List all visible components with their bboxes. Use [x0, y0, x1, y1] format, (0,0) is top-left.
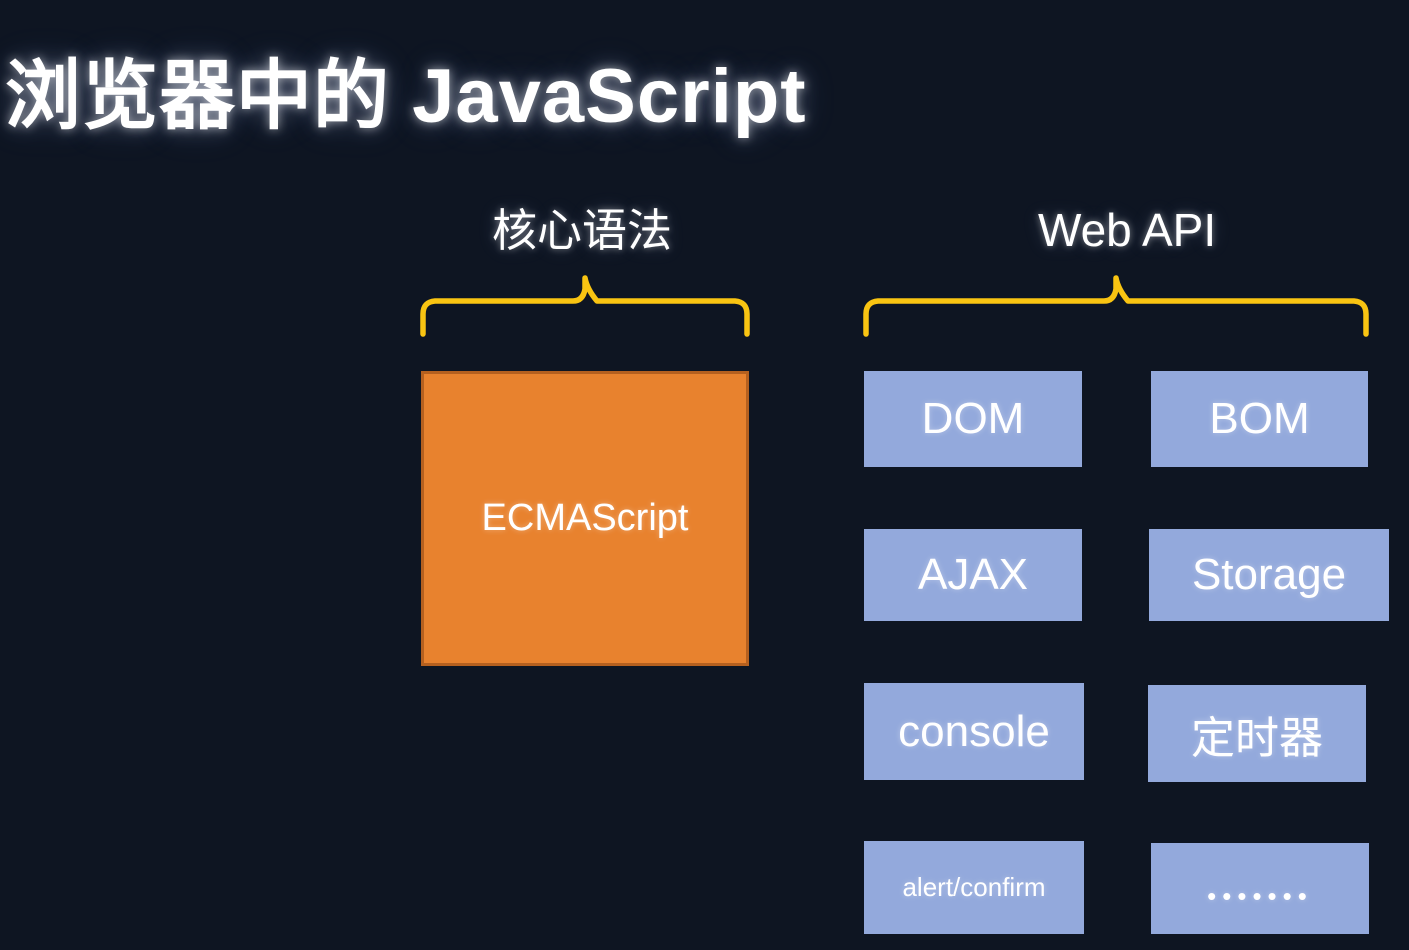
block-storage[interactable]: Storage — [1149, 529, 1389, 621]
block-timer-label: 定时器 — [1191, 702, 1323, 766]
block-more-ellipsis-label: ••••••• — [1207, 881, 1313, 912]
block-more-ellipsis[interactable]: ••••••• — [1151, 843, 1369, 934]
block-timer[interactable]: 定时器 — [1148, 685, 1366, 782]
block-ecmascript[interactable]: ECMAScript — [421, 371, 749, 666]
block-dom-label: DOM — [922, 394, 1025, 444]
block-alert-confirm-label: alert/confirm — [902, 872, 1045, 903]
block-ajax-label: AJAX — [918, 550, 1028, 600]
block-alert-confirm[interactable]: alert/confirm — [864, 841, 1084, 934]
page-title: 浏览器中的 JavaScript — [5, 53, 807, 140]
group-label-core-syntax: 核心语法 — [492, 208, 672, 253]
block-ecmascript-label: ECMAScript — [482, 497, 689, 540]
block-storage-label: Storage — [1192, 550, 1346, 600]
block-bom-label: BOM — [1209, 394, 1309, 444]
block-bom[interactable]: BOM — [1151, 371, 1368, 467]
block-console[interactable]: console — [864, 683, 1084, 780]
slide-canvas: 浏览器中的 JavaScript 核心语法 ECMAScript Web API… — [0, 0, 1409, 950]
curly-brace-web-api — [858, 272, 1374, 338]
block-ajax[interactable]: AJAX — [864, 529, 1082, 621]
curly-brace-core-syntax — [415, 272, 755, 338]
group-label-web-api: Web API — [1038, 207, 1216, 253]
block-console-label: console — [898, 707, 1050, 757]
block-dom[interactable]: DOM — [864, 371, 1082, 467]
